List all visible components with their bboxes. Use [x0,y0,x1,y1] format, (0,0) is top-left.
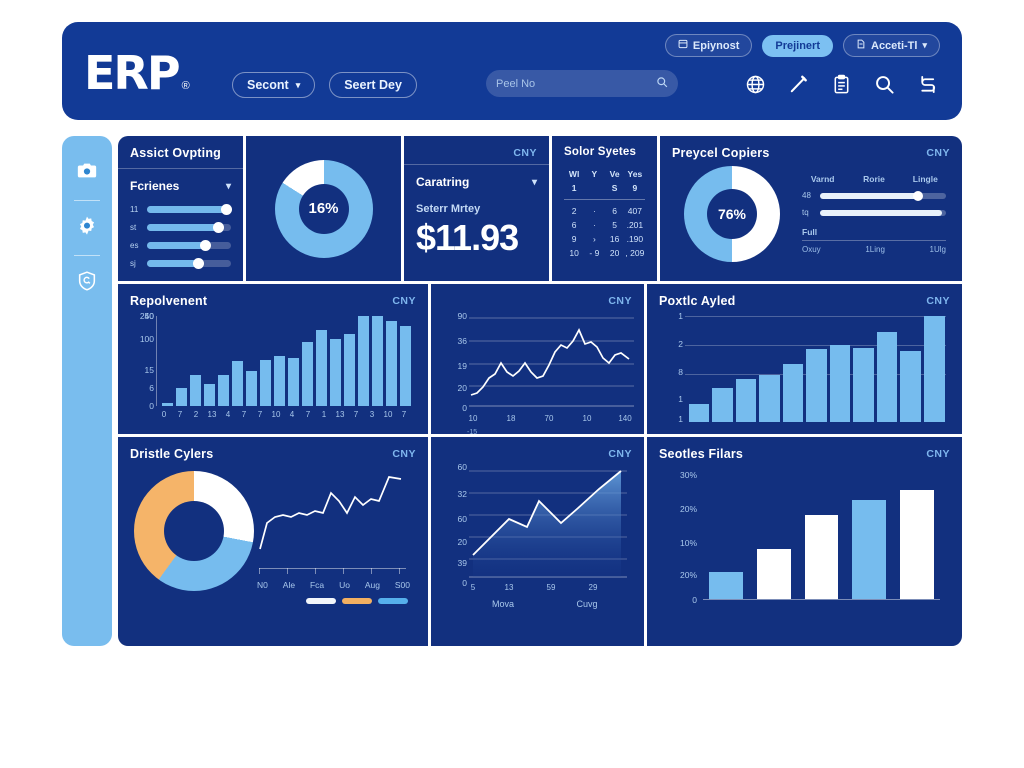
slider-track[interactable] [147,260,231,267]
header-top-pills: Epiynost Prejinert Acceti-Tl ▾ [665,34,940,57]
bar[interactable] [274,356,285,406]
table-body: 2 · 6 407 6 · 5 .201 9 [564,204,645,260]
app-logo[interactable]: ERP ® [84,50,190,96]
bar[interactable] [924,316,945,422]
x-tick: 7 [178,410,182,419]
bar[interactable] [218,375,229,406]
card-tag: CNY [608,295,632,307]
bar[interactable] [712,388,733,422]
bar[interactable] [805,515,839,599]
line-series [469,316,634,408]
table-header-cell: Y [584,167,604,181]
card-solar-systes: Solor Syetes Wl Y Ve Yes 1 S 9 [552,136,657,281]
bar[interactable] [900,351,921,422]
x-tick: 7 [242,410,246,419]
y-tick: 20 [458,383,467,393]
bar[interactable] [757,549,791,599]
x-tick: 10 [469,414,478,423]
dashboard-app: ERP ® Secont ▾ Seert Dey [0,0,1024,768]
bar[interactable] [246,371,257,406]
slider-track[interactable] [820,193,946,199]
x-tick: 10 [583,414,592,423]
table-cell: .201 [625,218,645,232]
legend-swatch [378,598,408,604]
y-axis: 1 2 8 1 1 [659,314,685,420]
card-asset-grouping: Assict Ovpting Fcrienes ▾ 11 st [118,136,243,281]
nav-pill-label: Seert Dey [344,78,402,92]
bar[interactable] [877,332,898,422]
donut-chart-segments [134,471,254,591]
axis-tick-row: Oxuy 1Ling 1Ulg [802,245,946,254]
x-tick: 13 [336,410,345,419]
x-tick: 4 [290,410,294,419]
y-tick: 39 [458,558,467,568]
y-tick: 10% [680,538,697,548]
y-tick: 40 [145,311,154,321]
card-title: Preycel Copiers [672,146,950,160]
chevron-down-icon: ▾ [226,181,231,192]
donut-chart-16: 16% [275,160,373,258]
app-header: ERP ® Secont ▾ Seert Dey [62,22,962,120]
y-tick: 19 [458,361,467,371]
divider [404,164,549,165]
bar[interactable] [400,326,411,406]
kpi-label: Seterr Mrtey [416,203,537,215]
table-cell: , 209 [625,246,645,260]
slider-track[interactable] [820,210,946,216]
slider-track[interactable] [147,242,231,249]
bar[interactable] [204,384,215,406]
slider-knob[interactable] [200,240,211,251]
y-tick: 0 [462,403,467,413]
y-tick: 2 [678,339,683,349]
sidebar-item-camera[interactable] [70,156,104,190]
x-tick: 7 [306,410,310,419]
sidebar-item-security[interactable] [70,266,104,300]
bar[interactable] [709,572,743,599]
chart-legend [253,598,408,604]
x-tick: 70 [545,414,554,423]
x-sublabel: Cuvg [576,599,597,609]
globe-icon[interactable] [745,74,766,95]
card-tag: CNY [926,295,950,307]
kpi-value: $11.93 [416,217,537,259]
mini-slider-row[interactable]: tq [802,208,946,217]
mini-slider-headers: Varnd Rorie Lingle [802,174,946,184]
bar[interactable] [260,360,271,406]
search-input[interactable] [496,78,656,90]
bar-series [687,316,946,422]
y-tick: 15 [145,365,154,375]
nav-pill-seert-dey[interactable]: Seert Dey [329,72,417,98]
y-tick: 60 [458,514,467,524]
refresh-icon[interactable] [917,74,938,95]
bar[interactable] [302,342,313,406]
card-title: Assict Ovpting [130,146,231,160]
sidebar-divider [74,200,100,201]
bar[interactable] [689,404,710,422]
card-caratring: CNY Caratring ▾ Seterr Mrtey $11.93 [404,136,549,281]
doc-icon [856,39,866,52]
y-tick: 36 [458,336,467,346]
table-row[interactable]: 9 › 16 .190 [564,232,645,246]
table-cell: 6 [605,204,625,218]
table-subheader-cell [584,181,604,195]
bar[interactable] [288,358,299,406]
y-tick: 0 [692,595,697,605]
axis-label: Full [802,227,946,237]
axis-tick: 1Ulg [930,245,946,254]
table-cell: .190 [625,232,645,246]
slider-fill [820,193,918,199]
donut-center-value: 16% [299,184,349,234]
card-tag: CNY [392,448,416,460]
chevron-down-icon: ▾ [296,80,301,91]
x-tick: 4 [226,410,230,419]
slider-label: st [130,223,140,232]
card-tag: CNY [392,295,416,307]
x-tick: Ale [283,580,295,590]
slider-fill [147,224,219,231]
x-tick: 7 [258,410,262,419]
nav-pill-secont[interactable]: Secont ▾ [232,72,315,98]
slider-row[interactable]: st [130,223,231,232]
bar[interactable] [232,361,243,406]
table-row[interactable]: 10 - 9 20 , 209 [564,246,645,260]
y-tick: 60 [458,462,467,472]
table-cell: 6 [564,218,584,232]
logo-registered-mark: ® [182,80,190,92]
table-cell: · [584,204,604,218]
x-sub-tick: -15 [467,429,477,434]
header-icon-row [745,74,938,95]
table-cell: 20 [605,246,625,260]
card-postic-ayled: Poxtlc Ayled CNY 1 2 8 1 1 [647,284,962,434]
card-donut-16: 16% [246,136,401,281]
slider-row[interactable]: es [130,241,231,250]
x-tick: Uo [339,580,350,590]
bar-series [709,475,934,599]
bar-chart-seotles: 30% 20% 10% 20% 0 [659,467,950,622]
slider-track[interactable] [147,224,231,231]
area-chart: 60 32 60 20 39 0 [443,465,632,615]
donut-chart-76: 76% [684,166,780,262]
bar[interactable] [783,364,804,422]
x-tick: 3 [370,410,374,419]
slider-list: 11 st es [130,205,231,268]
table-header-cell: Yes [625,167,645,181]
window-icon [678,39,688,52]
card-title: Seotles Filars [659,447,950,461]
x-tick: 13 [505,583,514,592]
bar[interactable] [900,490,934,599]
header-nav-pills: Secont ▾ Seert Dey [232,72,417,98]
bar[interactable] [806,349,827,422]
card-tag: CNY [926,147,950,159]
top-pill-label: Prejinert [775,40,820,52]
donut-hole [164,501,224,561]
x-axis: N0 Ale Fca Uo Aug S00 [257,580,412,590]
bar[interactable] [853,348,874,422]
area-series [469,467,627,579]
slider-fill [820,210,942,216]
axis-tick: Oxuy [802,245,821,254]
dashboard-row-1: Assict Ovpting Fcrienes ▾ 11 st [118,136,962,281]
card-tag: CNY [608,448,632,460]
sidebar-divider [74,255,100,256]
top-pill-label: Acceti-Tl [871,40,917,52]
search-icon[interactable] [874,74,895,95]
chevron-down-icon: ▾ [532,177,537,188]
table-cell: 16 [605,232,625,246]
table-row[interactable]: 6 · 5 .201 [564,218,645,232]
slider-fill [147,242,206,249]
bar[interactable] [316,330,327,406]
mini-slider-row[interactable]: 48 [802,191,946,200]
axis-tick: 1Ling [865,245,885,254]
y-tick: 90 [458,311,467,321]
slider-row[interactable]: 11 [130,205,231,214]
axis-line [156,316,157,406]
bar[interactable] [162,403,173,406]
clipboard-icon[interactable] [831,74,852,95]
line-chart: 90 36 19 20 0 10 [443,314,632,426]
y-tick: 1 [678,394,683,404]
dropdown-value: Caratring [416,175,469,189]
top-pill-label: Epiynost [693,40,739,52]
x-tick: 10 [384,410,393,419]
bar[interactable] [386,321,397,406]
slider-fill [147,206,227,213]
table-cell: - 9 [584,246,604,260]
slider-label: sj [130,259,140,268]
y-tick: 100 [140,334,154,344]
card-seotles-filars: Seotles Filars CNY 30% 20% 10% 20% 0 [647,437,962,646]
y-tick: 1 [678,414,683,424]
y-tick: 20% [680,570,697,580]
slider-knob[interactable] [221,204,232,215]
table-header-cell: Ve [605,167,625,181]
card-area-chart: CNY 60 32 60 20 39 0 [431,437,644,646]
bar-chart-repolvement: 250 100 40 15 6 0 [130,312,416,422]
x-tick: 10 [272,410,281,419]
table-cell: 407 [625,204,645,218]
pen-icon[interactable] [788,74,809,95]
card-repolvement: Repolvenent CNY 250 100 40 15 6 0 [118,284,428,434]
axis-line [703,599,940,600]
divider [564,199,645,200]
bar[interactable] [358,316,369,406]
bar[interactable] [190,375,201,406]
card-title: Repolvenent [130,294,416,308]
card-preycel-copiers: Preycel Copiers CNY 76% Varnd Rorie Ling… [660,136,962,281]
dashboard-row-3: Dristle Cylers CNY [118,437,962,646]
x-sub-axis: Mova Cuvg [443,599,632,611]
shield-icon [76,270,98,297]
y-axis: 60 32 60 20 39 0 [443,467,469,583]
mini-header-cell: Lingle [905,174,946,184]
y-tick: 32 [458,489,467,499]
bar-series [160,316,412,406]
search-icon[interactable] [656,75,668,93]
dropdown-value: Fcrienes [130,179,179,193]
bar[interactable] [830,345,851,422]
bar[interactable] [344,334,355,406]
x-tick: 59 [547,583,556,592]
x-axis: 0 7 2 13 4 7 7 10 4 7 1 13 7 3 1 [130,410,416,422]
card-dristle-cylers: Dristle Cylers CNY [118,437,428,646]
y-axis: 90 36 19 20 0 [443,316,469,408]
x-tick: 7 [354,410,358,419]
x-axis: 10 18 70 10 140 [443,414,632,426]
x-tick: Fca [310,580,324,590]
header-search[interactable] [486,70,678,97]
card-title: Solor Syetes [564,146,645,158]
chevron-down-icon: ▾ [922,40,927,51]
table-cell: 10 [564,246,584,260]
bar[interactable] [759,375,780,422]
y-tick: 30% [680,470,697,480]
slider-track[interactable] [147,206,231,213]
sidebar-item-settings[interactable] [70,211,104,245]
card-tag: CNY [513,147,537,159]
line-series [257,471,412,566]
top-pill-epiynost[interactable]: Epiynost [665,34,752,57]
table-subheader-row: 1 S 9 [564,181,645,195]
slider-label: 11 [130,205,140,214]
bar-chart-postic: 1 2 8 1 1 [659,312,950,424]
axis-ticks [257,568,412,575]
y-tick: 8 [678,367,683,377]
table-header-cell: Wl [564,167,584,181]
x-tick: 7 [402,410,406,419]
y-tick: 20 [458,537,467,547]
top-pill-prejinert[interactable]: Prejinert [762,35,833,57]
slider-knob[interactable] [213,222,224,233]
mini-header-cell: Varnd [802,174,843,184]
card-tag: CNY [926,448,950,460]
x-tick: 29 [589,583,598,592]
card-line-chart: CNY 90 36 19 20 0 [431,284,644,434]
x-sublabel: Mova [492,599,514,609]
donut-center-value: 76% [707,189,757,239]
y-tick: 1 [678,311,683,321]
slider-knob[interactable] [913,191,923,201]
bar[interactable] [852,500,886,599]
bar[interactable] [736,379,757,422]
top-pill-acceti-tl[interactable]: Acceti-Tl ▾ [843,34,940,57]
table-cell: 5 [605,218,625,232]
left-sidebar [62,136,112,646]
nav-pill-label: Secont [247,78,289,92]
data-table: Wl Y Ve Yes 1 S 9 2 [564,167,645,260]
y-axis: 250 100 40 15 6 0 [130,316,156,406]
x-tick: 140 [618,414,631,423]
x-tick: 0 [162,410,166,419]
y-tick: 20% [680,504,697,514]
table-cell: 9 [564,232,584,246]
bar[interactable] [330,339,341,407]
card-title: Dristle Cylers [130,447,416,461]
mini-slider-label: tq [802,208,814,217]
logo-text: ERP [84,50,179,96]
y-tick: 6 [149,383,154,393]
legend-swatch [306,598,336,604]
x-tick: 13 [208,410,217,419]
x-tick: Aug [365,580,380,590]
x-axis: 5 13 59 29 [443,583,632,595]
dashboard-board: Assict Ovpting Fcrienes ▾ 11 st [118,136,962,646]
table-subheader-cell: 1 [564,181,584,195]
bar[interactable] [176,388,187,406]
x-tick: 1 [322,410,326,419]
camera-icon [76,160,98,187]
bar[interactable] [372,316,383,406]
slider-label: es [130,241,140,250]
mini-header-cell: Rorie [853,174,894,184]
table-cell: › [584,232,604,246]
table-cell: · [584,218,604,232]
gear-icon [76,215,98,242]
caratring-dropdown[interactable]: Caratring ▾ [416,175,537,189]
dashboard-row-2: Repolvenent CNY 250 100 40 15 6 0 [118,284,962,434]
x-tick: N0 [257,580,268,590]
table-header-row: Wl Y Ve Yes [564,167,645,181]
x-tick: S00 [395,580,410,590]
card-title: Poxtlc Ayled [659,294,950,308]
table-row[interactable]: 2 · 6 407 [564,204,645,218]
x-tick: 18 [507,414,516,423]
slider-knob[interactable] [193,258,204,269]
slider-fill [147,260,199,267]
grouping-dropdown[interactable]: Fcrienes ▾ [130,179,231,193]
table-cell: 2 [564,204,584,218]
axis-line [802,240,946,241]
table-subheader-cell: 9 [625,181,645,195]
mini-slider-label: 48 [802,191,814,200]
legend-swatch [342,598,372,604]
x-tick: 5 [471,583,475,592]
y-axis: 30% 20% 10% 20% 0 [665,475,699,600]
table-subheader-cell: S [605,181,625,195]
x-tick: 2 [194,410,198,419]
divider [118,168,243,169]
slider-row[interactable]: sj [130,259,231,268]
